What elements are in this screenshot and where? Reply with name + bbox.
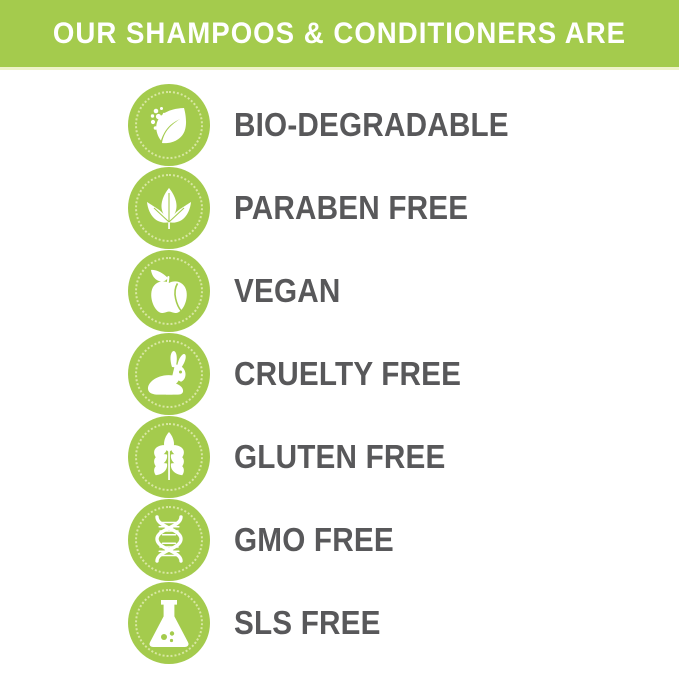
- claim-badge-cruelty-free: [128, 333, 210, 415]
- list-item: BIO-DEGRADABLE: [0, 84, 679, 166]
- list-item: VEGAN: [0, 250, 679, 332]
- claim-badge-gluten-free: [128, 416, 210, 498]
- claim-badge-paraben-free: [128, 167, 210, 249]
- list-item: GLUTEN FREE: [0, 416, 679, 498]
- rabbit-icon: [142, 349, 196, 399]
- product-claims-poster: OUR SHAMPOOS & CONDITIONERS ARE: [0, 0, 679, 679]
- claim-label: VEGAN: [234, 272, 341, 310]
- claims-list: BIO-DEGRADABLE: [0, 70, 679, 679]
- dna-helix-icon: [145, 513, 193, 567]
- claim-label: GLUTEN FREE: [234, 438, 446, 476]
- list-item: SLS FREE: [0, 582, 679, 664]
- claim-label: GMO FREE: [234, 521, 394, 559]
- header-banner: OUR SHAMPOOS & CONDITIONERS ARE: [0, 0, 679, 67]
- claim-badge-gmo-free: [128, 499, 210, 581]
- claim-label: CRUELTY FREE: [234, 355, 461, 393]
- claim-label: BIO-DEGRADABLE: [234, 106, 509, 144]
- claim-badge-vegan: [128, 250, 210, 332]
- list-item: CRUELTY FREE: [0, 333, 679, 415]
- claim-label: SLS FREE: [234, 604, 381, 642]
- leaves-sprig-icon: [142, 181, 196, 235]
- leaf-droplets-icon: [143, 99, 195, 151]
- claim-badge-bio-degradable: [128, 84, 210, 166]
- page-title: OUR SHAMPOOS & CONDITIONERS ARE: [53, 17, 626, 51]
- claim-badge-sls-free: [128, 582, 210, 664]
- apple-icon: [144, 265, 194, 317]
- flask-icon: [146, 597, 192, 649]
- claim-label: PARABEN FREE: [234, 189, 468, 227]
- list-item: GMO FREE: [0, 499, 679, 581]
- wheat-stalk-icon: [146, 430, 192, 484]
- list-item: PARABEN FREE: [0, 167, 679, 249]
